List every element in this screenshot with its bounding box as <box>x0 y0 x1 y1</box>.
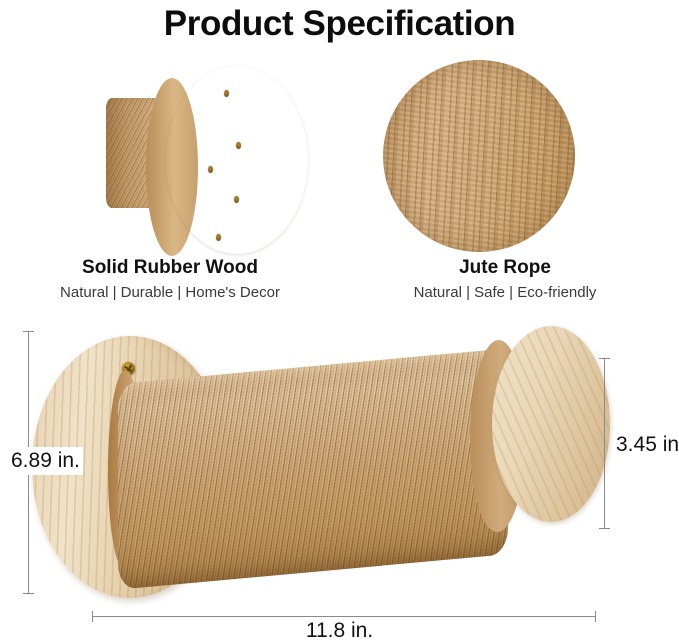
screw-icon <box>216 234 221 241</box>
jute-rope-cylinder <box>118 348 508 589</box>
product-main-illustration <box>0 318 679 618</box>
feature-subtitle-wood: Natural | Durable | Home's Decor <box>20 282 320 304</box>
jute-rope-illustration <box>355 58 655 254</box>
feature-caption-rope: Jute Rope Natural | Safe | Eco-friendly <box>355 256 655 304</box>
wood-disc-illustration <box>20 58 320 254</box>
wood-disc-face <box>166 66 308 254</box>
rope-texture-circle <box>383 60 575 252</box>
dim-diameter-label: 3.45 in. <box>613 431 679 459</box>
screw-icon <box>208 166 213 173</box>
feature-title-wood: Solid Rubber Wood <box>20 256 320 280</box>
dim-diameter-cap-bottom <box>599 528 610 529</box>
dim-diameter-line <box>604 358 605 528</box>
feature-caption-wood: Solid Rubber Wood Natural | Durable | Ho… <box>20 256 320 304</box>
dim-height-label: 6.89 in. <box>8 447 83 475</box>
dim-length-label: 11.8 in. <box>0 618 679 644</box>
feature-subtitle-rope: Natural | Safe | Eco-friendly <box>355 282 655 304</box>
page-title: Product Specification <box>0 2 679 46</box>
screw-icon <box>236 142 241 149</box>
screw-icon <box>234 196 239 203</box>
dim-length-line <box>92 616 595 617</box>
feature-card-jute-rope: Jute Rope Natural | Safe | Eco-friendly <box>355 58 655 313</box>
dim-height-cap-bottom <box>23 593 34 594</box>
wood-end-cap-face <box>492 326 610 522</box>
feature-title-rope: Jute Rope <box>355 256 655 280</box>
feature-card-solid-rubber-wood: Solid Rubber Wood Natural | Durable | Ho… <box>20 58 320 313</box>
screw-icon <box>224 90 229 97</box>
